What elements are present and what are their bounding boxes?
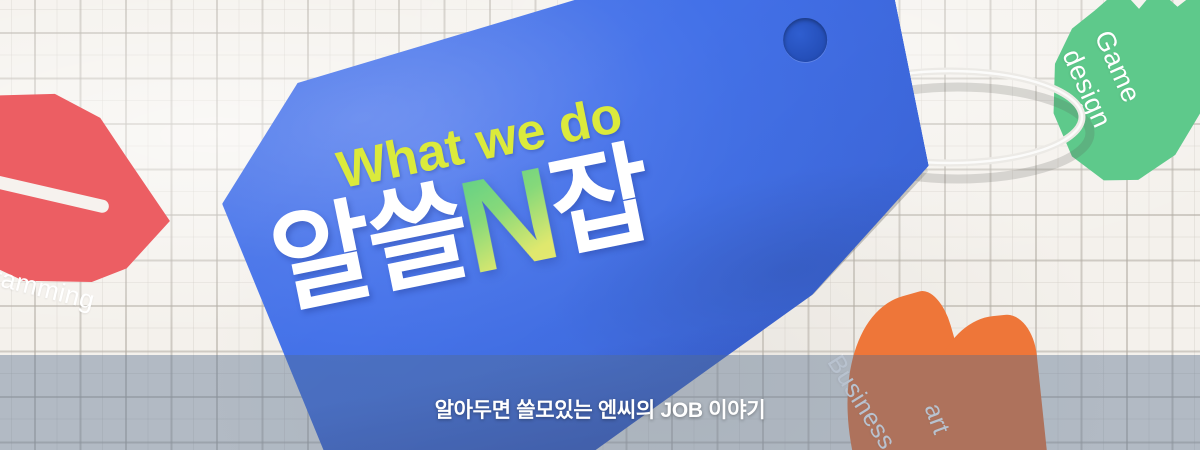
deco-game-design: Game design (1028, 0, 1200, 196)
deco-programming: Programming (0, 61, 196, 310)
title-part-1: 알쓸 (263, 176, 475, 323)
page-title: 알쓸 N 잡 (261, 128, 661, 333)
subtitle-text: 알아두면 쓸모있는 엔씨의 JOB 이야기 (0, 355, 1200, 450)
banner-stage: Programming Game design Business art Wha… (0, 0, 1200, 450)
